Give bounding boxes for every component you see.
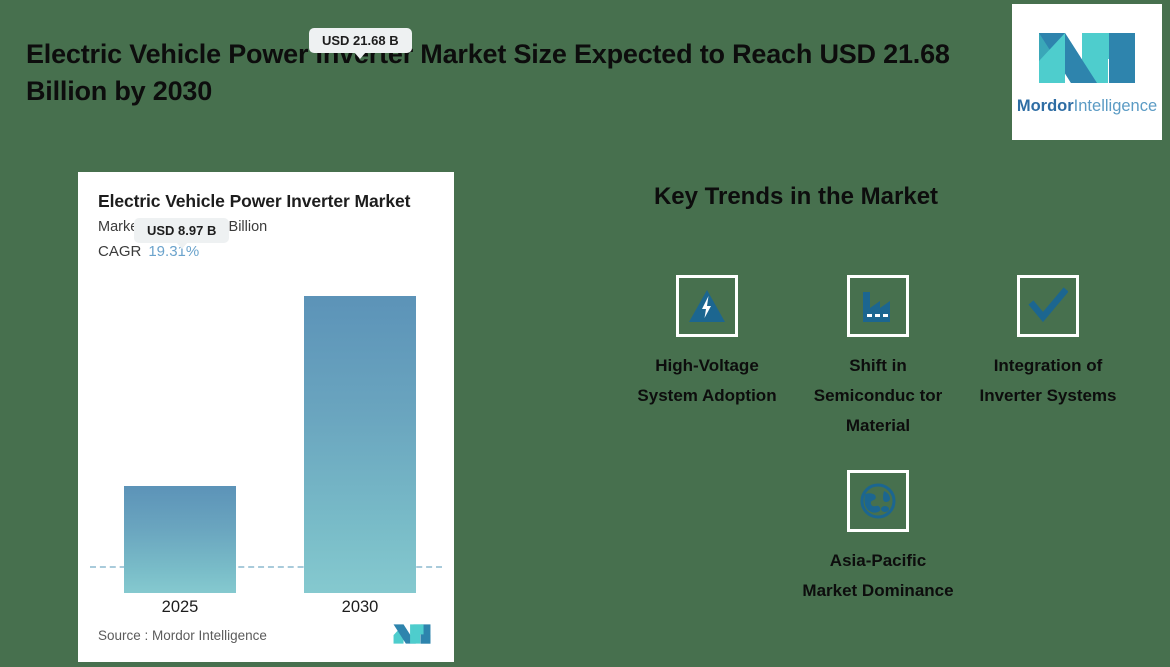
trend-label: High-Voltage System Adoption [631,351,783,411]
trend-icon-box [847,470,909,532]
chart-title: Electric Vehicle Power Inverter Market [98,191,410,212]
infographic-page: Electric Vehicle Power Inverter Market S… [0,0,1170,667]
brand-logo-text: MordorIntelligence [1017,97,1157,116]
trend-item-high-voltage: High-Voltage System Adoption [631,275,783,411]
bar-2030 [304,296,416,593]
high-voltage-icon [687,286,727,326]
factory-icon [858,286,898,326]
trend-icon-box [676,275,738,337]
market-size-chart-card: Electric Vehicle Power Inverter Market M… [78,172,454,662]
mordor-intelligence-logo-icon [1035,29,1139,87]
trend-icon-box [847,275,909,337]
trend-label: Shift in Semiconduc tor Material [802,351,954,441]
value-badge-2030: USD 21.68 B [309,28,412,53]
trend-item-integration: Integration of Inverter Systems [972,275,1124,411]
chart-footer-logo-icon [392,622,432,646]
trend-label: Integration of Inverter Systems [972,351,1124,411]
page-title: Electric Vehicle Power Inverter Market S… [26,36,986,110]
bar-2025 [124,486,236,593]
brand-name-bold: Mordor [1017,97,1074,115]
globe-icon [858,481,898,521]
brand-name-light: Intelligence [1074,97,1157,115]
trend-label: Asia-Pacific Market Dominance [802,546,954,606]
x-axis-label-2025: 2025 [124,598,236,617]
brand-logo-card: MordorIntelligence [1012,4,1162,140]
checkmark-icon [1028,286,1068,326]
source-value: Mordor Intelligence [152,628,267,643]
cagr-value: 19.31% [148,243,199,260]
cagr-label: CAGR [98,243,141,260]
trend-icon-box [1017,275,1079,337]
chart-source: Source : Mordor Intelligence [98,628,267,643]
x-axis-label-2030: 2030 [304,598,416,617]
key-trends-heading: Key Trends in the Market [608,183,984,211]
value-badge-2025: USD 8.97 B [134,218,229,243]
chart-plot-area: USD 8.97 B USD 21.68 B 2025 2030 [78,276,454,593]
trend-item-semiconductor: Shift in Semiconduc tor Material [802,275,954,441]
source-label: Source : [98,628,148,643]
trend-item-asia-pacific: Asia-Pacific Market Dominance [802,470,954,606]
